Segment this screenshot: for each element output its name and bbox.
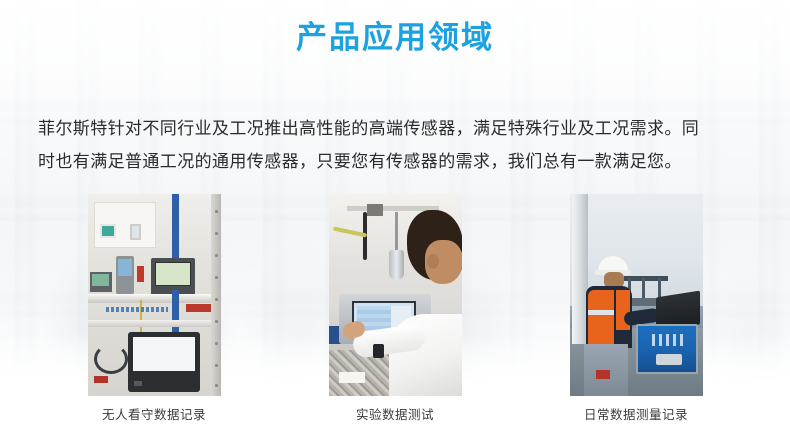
product-application-banner: 产品应用领域 菲尔斯特针对不同行业及工况推出高性能的高端传感器，满足特殊行业及工… — [0, 0, 790, 442]
page-title: 产品应用领域 — [0, 18, 790, 58]
application-gallery: 无人看守数据记录 — [0, 194, 790, 434]
gallery-caption: 无人看守数据记录 — [88, 407, 221, 423]
gallery-item-lab-test[interactable]: 实验数据测试 — [329, 194, 462, 423]
photo-instrument-panel — [88, 194, 221, 396]
gallery-item-unattended-logging[interactable]: 无人看守数据记录 — [88, 194, 221, 423]
gallery-caption: 实验数据测试 — [329, 407, 462, 423]
intro-paragraph: 菲尔斯特针对不同行业及工况推出高性能的高端传感器，满足特殊行业及工况需求。同 时… — [38, 112, 754, 178]
gallery-caption: 日常数据测量记录 — [570, 407, 703, 423]
intro-line-1: 菲尔斯特针对不同行业及工况推出高性能的高端传感器，满足特殊行业及工况需求。同 — [38, 112, 754, 145]
photo-lab-technician — [329, 194, 462, 396]
photo-field-worker — [570, 194, 703, 396]
intro-line-2: 时也有满足普通工况的通用传感器，只要您有传感器的需求，我们总有一款满足您。 — [38, 145, 754, 178]
gallery-item-daily-measurement[interactable]: 日常数据测量记录 — [570, 194, 703, 423]
